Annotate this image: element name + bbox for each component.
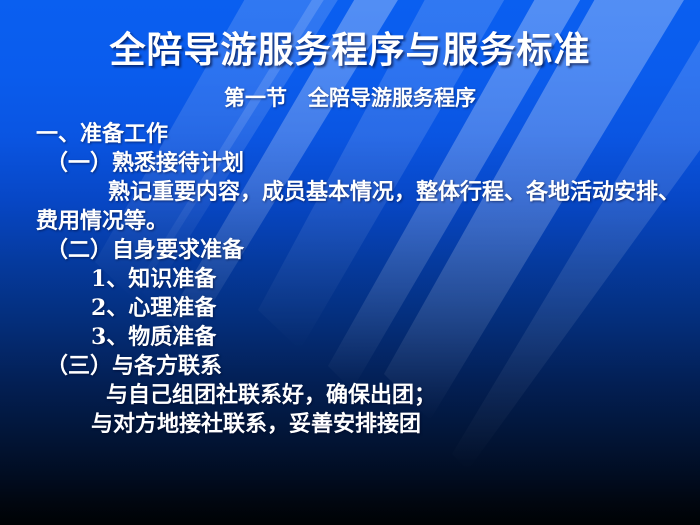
sub-1-body: 熟记重要内容，成员基本情况，整体行程、各地活动安排、费用情况等。 xyxy=(30,178,694,236)
sub-2-item-1: 1、知识准备 xyxy=(85,265,700,294)
slide-content: 全陪导游服务程序与服务标准 第一节 全陪导游服务程序 一、准备工作 （一）熟悉接… xyxy=(0,0,700,525)
sub-1-heading: （一）熟悉接待计划 xyxy=(40,149,700,178)
sub-2-item-2: 2、心理准备 xyxy=(85,294,700,323)
sub-3-line-1: 与自己组团社联系好，确保出团； xyxy=(100,381,700,410)
section-heading: 一、准备工作 xyxy=(30,120,700,149)
outline-list: （一）熟悉接待计划熟记重要内容，成员基本情况，整体行程、各地活动安排、费用情况等… xyxy=(0,149,700,439)
slide-subtitle: 第一节 全陪导游服务程序 xyxy=(0,85,700,110)
sub-2-item-3: 3、物质准备 xyxy=(85,323,700,352)
sub-3-line-2: 与对方地接社联系，妥善安排接团 xyxy=(85,410,700,439)
slide-title: 全陪导游服务程序与服务标准 xyxy=(0,30,700,71)
presentation-slide: 全陪导游服务程序与服务标准 第一节 全陪导游服务程序 一、准备工作 （一）熟悉接… xyxy=(0,0,700,525)
slide-body: 一、准备工作 （一）熟悉接待计划熟记重要内容，成员基本情况，整体行程、各地活动安… xyxy=(0,120,700,439)
sub-3-heading: （三）与各方联系 xyxy=(40,352,700,381)
sub-2-heading: （二）自身要求准备 xyxy=(40,236,700,265)
